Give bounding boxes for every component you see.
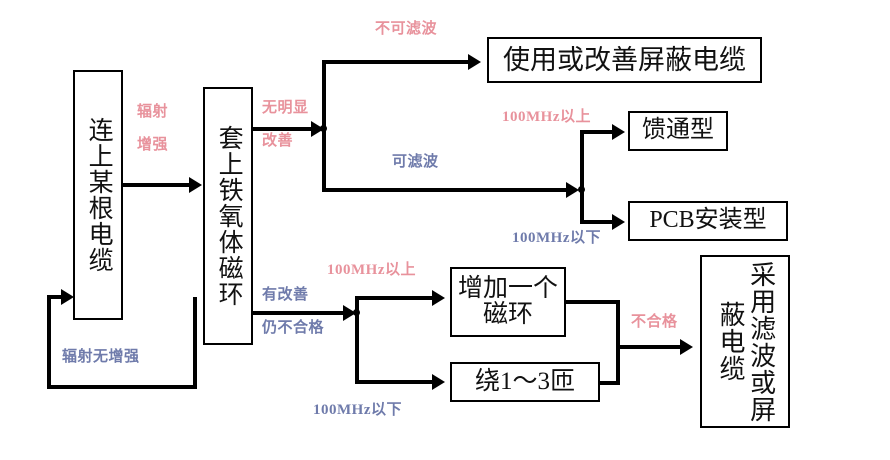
edge-start-to-ferrite-arrow bbox=[189, 177, 202, 193]
edge-label-improved-not-pass-line1: 有改善 bbox=[262, 283, 309, 304]
edge-label-not-qualified: 不合格 bbox=[631, 310, 678, 331]
flowchart-canvas: 辐射无增强 连上某根电缆 辐射 增强 套上铁氧体磁环 无明显 改善 不可滤波 使… bbox=[0, 0, 890, 460]
node-shielded-cable[interactable]: 使用或改善屏蔽电缆 bbox=[487, 37, 762, 83]
node-shielded-cable-label: 使用或改善屏蔽电缆 bbox=[503, 46, 746, 74]
edge-filterable-line bbox=[322, 188, 576, 192]
node-feedthrough-label: 馈通型 bbox=[642, 118, 714, 143]
lower-split-junction bbox=[353, 309, 360, 316]
edge-label-no-obvious-improve-line2: 改善 bbox=[262, 129, 293, 150]
edge-improved-not-pass-line bbox=[253, 311, 347, 315]
edge-label-above-100mhz-bottom: 100MHz以上 bbox=[327, 258, 416, 279]
edge-label-radiation-increase-line2: 增强 bbox=[137, 133, 168, 154]
edge-label-below-100mhz-bottom: 100MHz以下 bbox=[313, 398, 402, 419]
merge-vline bbox=[616, 300, 620, 385]
edge-label-improved-not-pass-line2: 仍不合格 bbox=[262, 316, 324, 337]
node-add-one-ring[interactable]: 增加一个磁环 bbox=[450, 267, 566, 337]
edge-label-filterable: 可滤波 bbox=[392, 150, 439, 171]
node-add-one-ring-label: 增加一个磁环 bbox=[452, 276, 564, 329]
node-filter-or-shield-label: 采用滤波或屏蔽电缆 bbox=[714, 257, 775, 426]
edge-label-above-100mhz-top: 100MHz以上 bbox=[502, 105, 591, 126]
edge-not-filterable-line bbox=[322, 60, 472, 64]
edge-add-ring-line bbox=[355, 296, 436, 300]
edge-wind-turns-line bbox=[355, 380, 436, 384]
loop-left-vline bbox=[47, 297, 51, 389]
node-start-cable[interactable]: 连上某根电缆 bbox=[73, 70, 123, 320]
edge-start-to-ferrite-line bbox=[123, 183, 191, 187]
filter-split-junction bbox=[578, 186, 585, 193]
edge-label-below-100mhz-top: 100MHz以下 bbox=[512, 226, 601, 247]
edge-not-filterable-arrow bbox=[468, 54, 481, 70]
edge-feedthrough-arrow bbox=[612, 124, 625, 140]
node-filter-or-shield[interactable]: 采用滤波或屏蔽电缆 bbox=[700, 255, 790, 428]
edge-not-qualified-line bbox=[616, 345, 684, 349]
node-start-cable-label: 连上某根电缆 bbox=[85, 117, 111, 273]
edge-label-not-filterable: 不可滤波 bbox=[375, 17, 437, 38]
node-feedthrough[interactable]: 馈通型 bbox=[628, 111, 728, 151]
upper-split-junction bbox=[320, 125, 327, 132]
merge-from-add-ring bbox=[566, 300, 620, 304]
edge-not-qualified-arrow bbox=[680, 339, 693, 355]
loop-bottom-hline bbox=[47, 385, 197, 389]
node-wind-turns-label: 绕1～3匝 bbox=[475, 369, 575, 395]
edge-label-no-obvious-improve-line1: 无明显 bbox=[262, 96, 309, 117]
loop-right-vline bbox=[193, 297, 197, 389]
edge-label-no-radiation-increase: 辐射无增强 bbox=[62, 345, 140, 366]
edge-label-radiation-increase-line1: 辐射 bbox=[137, 100, 168, 121]
node-pcb-mount[interactable]: PCB安装型 bbox=[628, 201, 788, 241]
filter-split-trunk bbox=[580, 130, 584, 224]
node-ferrite-ring-label: 套上铁氧体磁环 bbox=[215, 125, 241, 307]
edge-pcb-mount-arrow bbox=[612, 214, 625, 230]
node-wind-turns[interactable]: 绕1～3匝 bbox=[450, 362, 600, 402]
edge-add-ring-arrow bbox=[432, 290, 445, 306]
node-pcb-mount-label: PCB安装型 bbox=[649, 208, 766, 233]
edge-wind-turns-arrow bbox=[432, 374, 445, 390]
node-ferrite-ring[interactable]: 套上铁氧体磁环 bbox=[203, 87, 253, 345]
